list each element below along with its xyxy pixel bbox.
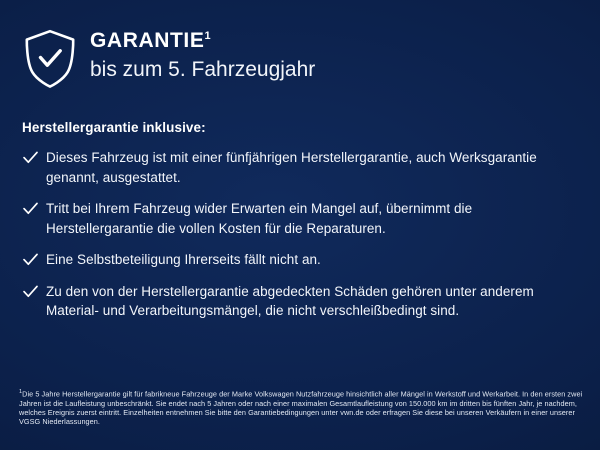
section-heading: Herstellergarantie inklusive: (22, 120, 580, 135)
check-icon (22, 283, 39, 300)
page-subtitle: bis zum 5. Fahrzeugjahr (90, 57, 315, 83)
page-title-superscript: 1 (204, 30, 210, 42)
page-title-text: GARANTIE (90, 29, 204, 52)
list-item-label: Zu den von der Herstellergarantie abgede… (46, 282, 580, 321)
list-item: Dieses Fahrzeug ist mit einer fünfjährig… (22, 148, 580, 187)
check-icon (22, 251, 39, 268)
headline-block: GARANTIE1 bis zum 5. Fahrzeugjahr (90, 26, 315, 83)
list-item-label: Eine Selbstbeteiligung Ihrerseits fällt … (46, 250, 321, 270)
shield-check-icon (22, 28, 78, 90)
footnote-text: Die 5 Jahre Herstellergarantie gilt für … (19, 389, 582, 426)
warranty-info-card: GARANTIE1 bis zum 5. Fahrzeugjahr Herste… (0, 0, 600, 450)
list-item-label: Tritt bei Ihrem Fahrzeug wider Erwarten … (46, 199, 580, 238)
benefits-section: Herstellergarantie inklusive: Dieses Fah… (22, 120, 580, 333)
check-icon (22, 200, 39, 217)
page-title: GARANTIE1 (90, 30, 315, 52)
list-item: Zu den von der Herstellergarantie abgede… (22, 282, 580, 321)
footnote: 1Die 5 Jahre Herstellergarantie gilt für… (19, 389, 584, 427)
check-icon (22, 149, 39, 166)
list-item: Eine Selbstbeteiligung Ihrerseits fällt … (22, 250, 580, 270)
header: GARANTIE1 bis zum 5. Fahrzeugjahr (22, 26, 315, 90)
list-item: Tritt bei Ihrem Fahrzeug wider Erwarten … (22, 199, 580, 238)
list-item-label: Dieses Fahrzeug ist mit einer fünfjährig… (46, 148, 580, 187)
